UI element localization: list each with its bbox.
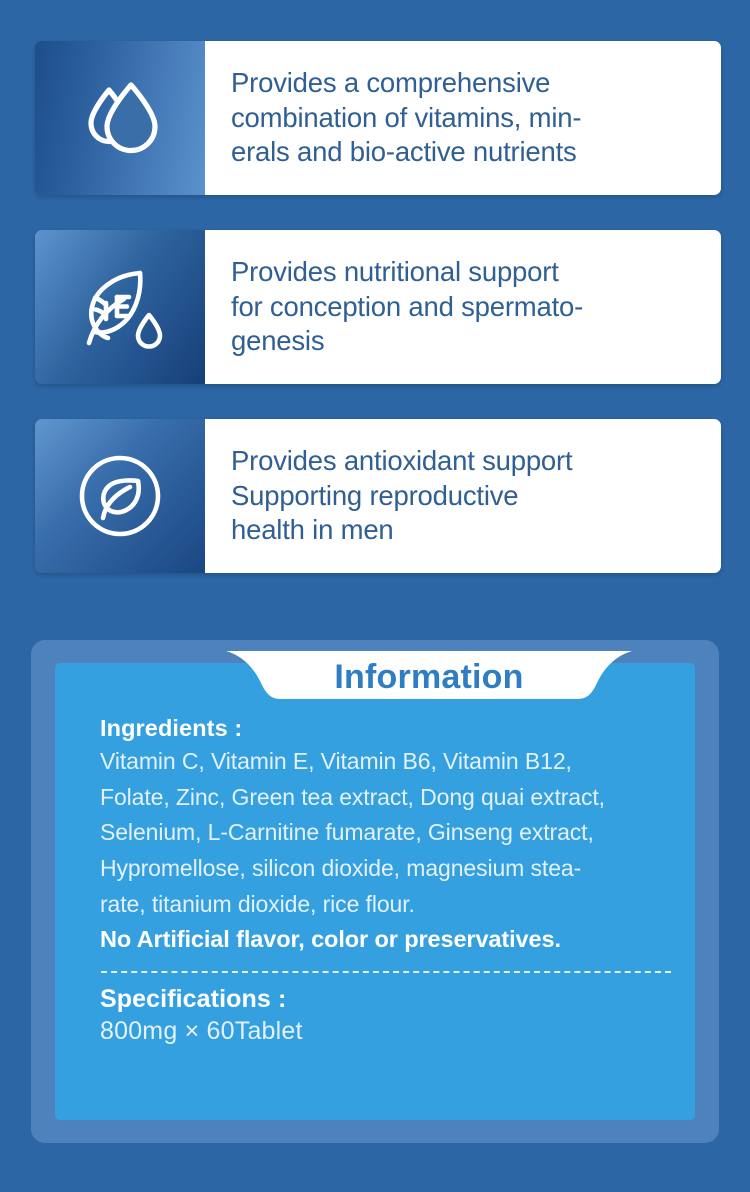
information-panel-inner: Information Ingredients : Vitamin C, Vit… bbox=[55, 663, 695, 1120]
feature-card-list: Provides a comprehensive combination of … bbox=[35, 41, 721, 608]
ingredients-heading: Ingredients : bbox=[100, 715, 677, 742]
feature-text-container: Provides antioxidant support Supporting … bbox=[205, 419, 721, 573]
ingredients-text: Vitamin C, Vitamin E, Vitamin B6, Vitami… bbox=[100, 744, 677, 922]
feature-card: Provides nutritional support for concept… bbox=[35, 230, 721, 384]
two-water-drops-icon bbox=[74, 72, 166, 164]
leaf-with-droplet-icon bbox=[72, 259, 168, 355]
feature-card: Provides a comprehensive combination of … bbox=[35, 41, 721, 195]
section-divider bbox=[101, 971, 671, 973]
feature-text-container: Provides nutritional support for concept… bbox=[205, 230, 721, 384]
no-artificial-note: No Artificial flavor, color or preservat… bbox=[100, 922, 677, 957]
information-panel: Information Ingredients : Vitamin C, Vit… bbox=[31, 640, 719, 1143]
information-ribbon: Information bbox=[226, 651, 632, 709]
feature-icon-container bbox=[35, 41, 205, 195]
feature-icon-container bbox=[35, 419, 205, 573]
specifications-heading: Specifications : bbox=[100, 985, 677, 1014]
feature-text: Provides a comprehensive combination of … bbox=[231, 66, 581, 170]
feature-text: Provides nutritional support for concept… bbox=[231, 255, 583, 359]
leaf-in-circle-icon bbox=[72, 448, 168, 544]
feature-text: Provides antioxidant support Supporting … bbox=[231, 444, 572, 548]
information-ribbon-title: Information bbox=[226, 651, 632, 703]
feature-card: Provides antioxidant support Supporting … bbox=[35, 419, 721, 573]
specifications-value: 800mg × 60Tablet bbox=[100, 1017, 677, 1046]
feature-icon-container bbox=[35, 230, 205, 384]
feature-text-container: Provides a comprehensive combination of … bbox=[205, 41, 721, 195]
